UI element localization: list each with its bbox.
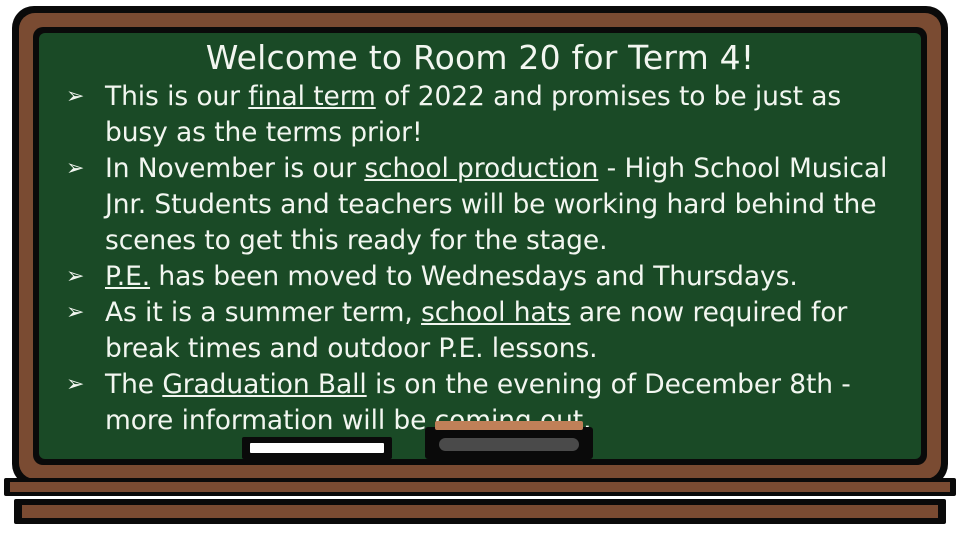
- chalk-tray-upper-bar: [10, 482, 950, 492]
- plain-text: In November is our: [105, 153, 364, 184]
- announcement-text: P.E. has been moved to Wednesdays and Th…: [105, 261, 798, 292]
- board-title: Welcome to Room 20 for Term 4!: [63, 37, 897, 78]
- announcement-item: ➢In November is our school production - …: [63, 151, 897, 259]
- emphasis-underlined-text: final term: [248, 81, 375, 112]
- plain-text: As it is a summer term,: [105, 297, 421, 328]
- announcement-text: This is our final term of 2022 and promi…: [105, 81, 841, 148]
- bullet-arrow-icon: ➢: [66, 367, 96, 403]
- bullet-arrow-icon: ➢: [66, 79, 96, 115]
- chalk-tray-lower: [14, 499, 946, 524]
- chalkboard-content: Welcome to Room 20 for Term 4! ➢This is …: [39, 33, 921, 459]
- chalkboard-surface: Welcome to Room 20 for Term 4! ➢This is …: [39, 33, 921, 459]
- chalk-stick: [242, 437, 392, 459]
- bullet-arrow-icon: ➢: [66, 151, 96, 187]
- chalk-tray-upper: [4, 478, 956, 496]
- announcement-text: As it is a summer term, school hats are …: [105, 297, 847, 364]
- plain-text: has been moved to Wednesdays and Thursda…: [150, 261, 798, 292]
- emphasis-underlined-text: school hats: [421, 297, 571, 328]
- announcement-item: ➢This is our final term of 2022 and prom…: [63, 79, 897, 151]
- announcement-list: ➢This is our final term of 2022 and prom…: [63, 79, 897, 439]
- chalk-stick-body: [250, 443, 384, 453]
- bullet-arrow-icon: ➢: [66, 295, 96, 331]
- chalkboard-outer-outline: Welcome to Room 20 for Term 4! ➢This is …: [12, 6, 948, 486]
- chalkboard-inner-outline: Welcome to Room 20 for Term 4! ➢This is …: [33, 27, 927, 465]
- bullet-arrow-icon: ➢: [66, 259, 96, 295]
- emphasis-underlined-text: Graduation Ball: [162, 369, 366, 400]
- emphasis-underlined-text: school production: [364, 153, 598, 184]
- chalkboard-slide: Welcome to Room 20 for Term 4! ➢This is …: [0, 0, 960, 540]
- plain-text: This is our: [105, 81, 248, 112]
- announcement-item: ➢P.E. has been moved to Wednesdays and T…: [63, 259, 897, 295]
- chalk-tray-lower-bar: [22, 505, 938, 518]
- blackboard-eraser: [425, 427, 593, 459]
- plain-text: The: [105, 369, 162, 400]
- announcement-item: ➢As it is a summer term, school hats are…: [63, 295, 897, 367]
- chalkboard-wooden-frame: Welcome to Room 20 for Term 4! ➢This is …: [19, 13, 941, 479]
- emphasis-underlined-text: P.E.: [105, 261, 150, 292]
- eraser-felt-pad: [439, 438, 579, 451]
- eraser-wooden-top: [435, 421, 583, 430]
- announcement-text: In November is our school production - H…: [105, 153, 887, 256]
